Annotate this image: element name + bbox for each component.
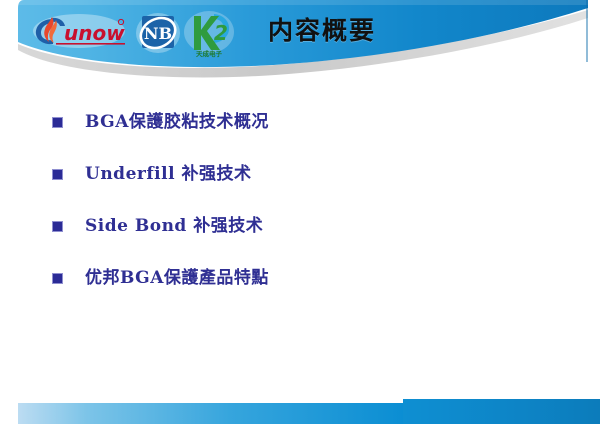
square-bullet-icon bbox=[52, 117, 63, 128]
svg-text:2: 2 bbox=[214, 21, 228, 45]
nb-wordmark: NB bbox=[144, 24, 172, 43]
k2-logo-subtext: 天成电子 bbox=[196, 49, 223, 58]
page-title: 内容概要 bbox=[268, 16, 376, 46]
unow-underline bbox=[56, 43, 125, 45]
list-item-label: Side Bond 补强技术 bbox=[85, 215, 263, 237]
list-item: Underfill 补强技术 bbox=[0, 148, 600, 200]
square-bullet-icon bbox=[52, 273, 63, 284]
footer-bar-right-segment bbox=[403, 399, 600, 424]
footer-bar bbox=[0, 396, 600, 424]
list-item-label: BGA保護胶粘技术概况 bbox=[85, 111, 269, 133]
bullet-list: BGA保護胶粘技术概况 Underfill 补强技术 Side Bond 补强技… bbox=[0, 96, 600, 304]
header-right-edge bbox=[586, 0, 588, 62]
list-item: BGA保護胶粘技术概况 bbox=[0, 96, 600, 148]
nb-logo: NB bbox=[136, 12, 180, 54]
nb-logo-graphic: NB bbox=[136, 12, 180, 54]
square-bullet-icon bbox=[52, 169, 63, 180]
unow-logo: unow bbox=[33, 13, 125, 49]
unow-logo-graphic: unow bbox=[33, 13, 125, 49]
list-item-label: 优邦BGA保護產品特點 bbox=[85, 267, 269, 289]
list-item: Side Bond 补强技术 bbox=[0, 200, 600, 252]
footer-bar-left-segment bbox=[18, 403, 403, 424]
k2-logo-graphic: 2 天成电子 bbox=[184, 10, 234, 58]
unow-wordmark: unow bbox=[64, 21, 125, 45]
list-item-label: Underfill 补强技术 bbox=[85, 163, 251, 185]
k2-logo: 2 天成电子 bbox=[184, 10, 234, 58]
presentation-slide: unow NB 2 天成电子 内 bbox=[0, 0, 600, 424]
list-item: 优邦BGA保護產品特點 bbox=[0, 252, 600, 304]
square-bullet-icon bbox=[52, 221, 63, 232]
